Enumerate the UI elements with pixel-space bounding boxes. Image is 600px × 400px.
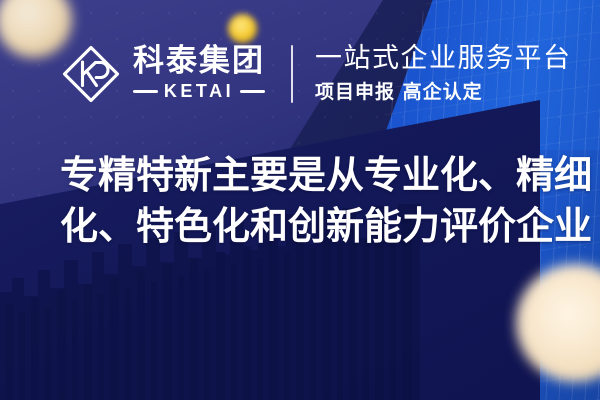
ketai-logo-lockup[interactable]: 科泰集团 KETAI bbox=[60, 43, 265, 105]
logo-english-row: KETAI bbox=[133, 81, 265, 102]
logo-company-name-cn: 科泰集团 bbox=[133, 46, 265, 78]
logo-rule-right bbox=[240, 90, 265, 93]
header-divider bbox=[291, 45, 293, 103]
headline-block: 专精特新主要是从专业化、精细 化、特色化和创新能力评价企业 bbox=[60, 150, 560, 252]
logo-rule-left bbox=[133, 90, 158, 93]
headline-line-1: 专精特新主要是从专业化、精细 bbox=[60, 150, 560, 201]
tagline-main-text: 一站式企业服务平台 bbox=[315, 44, 572, 74]
ketai-wordmark: 科泰集团 KETAI bbox=[133, 46, 265, 102]
tagline-block: 一站式企业服务平台 项目申报 高企认定 bbox=[315, 44, 572, 103]
headline-line-2: 化、特色化和创新能力评价企业 bbox=[60, 201, 560, 252]
logo-company-name-en: KETAI bbox=[164, 81, 234, 102]
tagline-sub-text: 项目申报 高企认定 bbox=[315, 81, 572, 104]
ketai-diamond-kp-monogram-icon bbox=[60, 43, 122, 105]
promo-banner: 科泰集团 KETAI 一站式企业服务平台 项目申报 高企认定 专精特新主要是从专… bbox=[0, 0, 600, 400]
banner-header: 科泰集团 KETAI 一站式企业服务平台 项目申报 高企认定 bbox=[60, 38, 572, 110]
